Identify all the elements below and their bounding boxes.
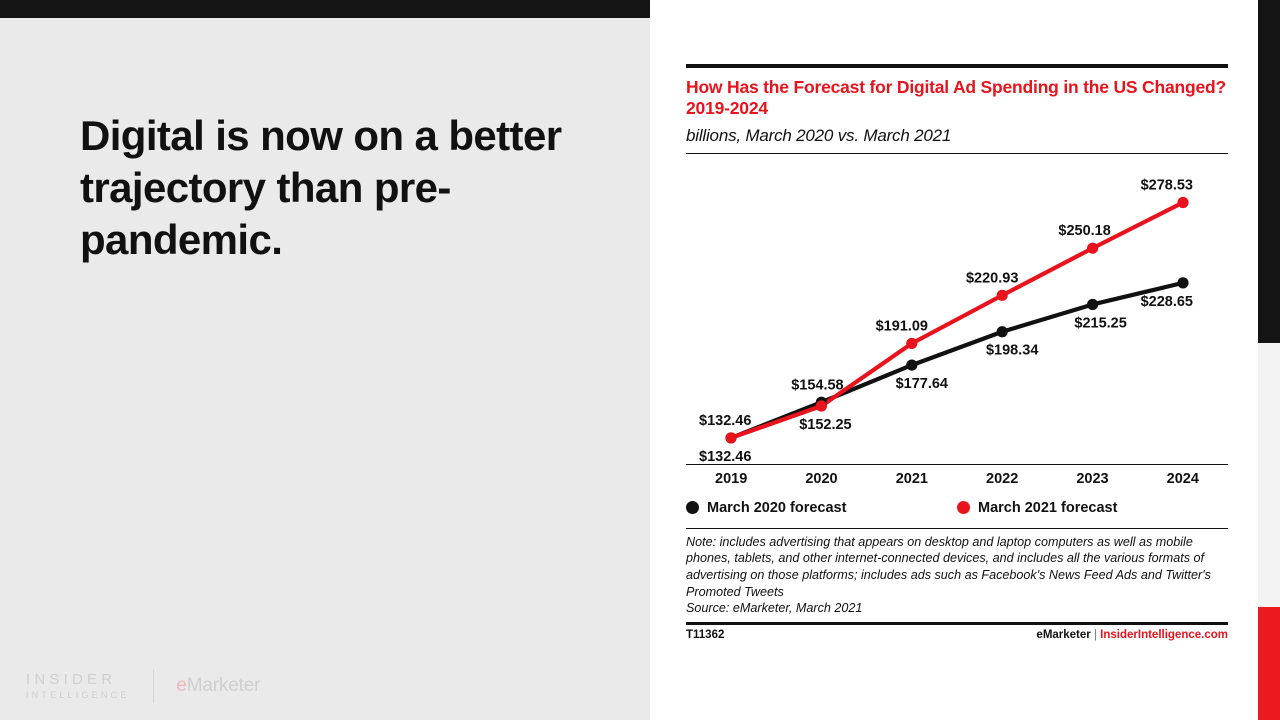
- legend-item-1[interactable]: March 2021 forecast: [957, 500, 1228, 516]
- data-point: [816, 400, 827, 411]
- data-point: [1087, 299, 1098, 310]
- x-axis-tick-2022: 2022: [957, 471, 1047, 487]
- data-point-label: $278.53: [1141, 177, 1193, 193]
- brand-lockup: INSIDER INTELLIGENCE eMarketer: [26, 668, 260, 704]
- data-point-label: $132.46: [699, 413, 751, 429]
- top-accent-bar: [0, 0, 650, 18]
- emarketer-logo-e: e: [176, 675, 186, 696]
- insider-logo-line2: INTELLIGENCE: [26, 689, 129, 701]
- chart-id-code: T11362: [686, 629, 724, 641]
- slide-headline: Digital is now on a better trajectory th…: [80, 110, 590, 266]
- data-point-label: $215.25: [1074, 315, 1126, 331]
- insider-logo-line1: INSIDER: [26, 671, 129, 690]
- chart-note: Note: includes advertising that appears …: [686, 528, 1228, 600]
- data-point-label: $177.64: [896, 376, 948, 392]
- data-point: [997, 326, 1008, 337]
- x-axis-tick-2024: 2024: [1138, 471, 1228, 487]
- x-axis-tick-2019: 2019: [686, 471, 776, 487]
- legend-dot-icon: [957, 501, 970, 514]
- data-point-label: $154.58: [791, 377, 843, 393]
- data-point-label: $132.46: [699, 449, 751, 464]
- legend-label: March 2020 forecast: [707, 500, 846, 516]
- chart-legend: March 2020 forecastMarch 2021 forecast: [686, 500, 1228, 528]
- chart-plot-area: $132.46$154.58$177.64$198.34$215.25$228.…: [686, 154, 1228, 464]
- x-axis-tick-labels: 201920202021202220232024: [686, 471, 1228, 487]
- footer-brand: eMarketer | InsiderIntelligence.com: [1036, 629, 1228, 641]
- data-point: [1087, 242, 1098, 253]
- data-point: [997, 289, 1008, 300]
- right-accent-bar-black: [1258, 0, 1280, 343]
- data-point-label: $228.65: [1141, 294, 1193, 310]
- data-point-label: $191.09: [876, 318, 928, 334]
- x-axis-tick-2020: 2020: [776, 471, 866, 487]
- data-point: [1177, 197, 1188, 208]
- footer-website: InsiderIntelligence.com: [1100, 629, 1228, 641]
- data-point: [906, 359, 917, 370]
- footer-brand-name: eMarketer: [1036, 629, 1090, 641]
- data-point: [906, 338, 917, 349]
- data-point: [1177, 277, 1188, 288]
- chart-card: How Has the Forecast for Digital Ad Spen…: [686, 0, 1228, 720]
- emarketer-logo: eMarketer: [176, 675, 260, 697]
- card-top-rule: [686, 64, 1228, 68]
- legend-item-0[interactable]: March 2020 forecast: [686, 500, 957, 516]
- footer-separator: |: [1094, 629, 1097, 641]
- data-point-label: $220.93: [966, 270, 1018, 286]
- brand-divider: [153, 669, 154, 703]
- chart-subtitle: billions, March 2020 vs. March 2021: [686, 126, 1228, 146]
- chart-title: How Has the Forecast for Digital Ad Spen…: [686, 77, 1228, 120]
- data-point-label: $198.34: [986, 342, 1038, 358]
- x-axis-tick-2021: 2021: [867, 471, 957, 487]
- x-axis-tick-2023: 2023: [1047, 471, 1137, 487]
- data-point-label: $250.18: [1058, 223, 1110, 239]
- line-chart-svg: $132.46$154.58$177.64$198.34$215.25$228.…: [686, 154, 1228, 464]
- data-point: [725, 432, 736, 443]
- right-accent-bar-red: [1258, 607, 1280, 720]
- chart-source: Source: eMarketer, March 2021: [686, 600, 1228, 617]
- legend-label: March 2021 forecast: [978, 500, 1117, 516]
- slide-left-panel: Digital is now on a better trajectory th…: [0, 18, 650, 720]
- x-axis-line: [686, 464, 1228, 465]
- legend-dot-icon: [686, 501, 699, 514]
- insider-intelligence-logo: INSIDER INTELLIGENCE: [26, 671, 129, 702]
- right-accent-bar-gray: [1258, 343, 1280, 607]
- data-point-label: $152.25: [799, 417, 851, 433]
- chart-footer: T11362 eMarketer | InsiderIntelligence.c…: [686, 622, 1228, 641]
- emarketer-logo-rest: Marketer: [187, 675, 260, 696]
